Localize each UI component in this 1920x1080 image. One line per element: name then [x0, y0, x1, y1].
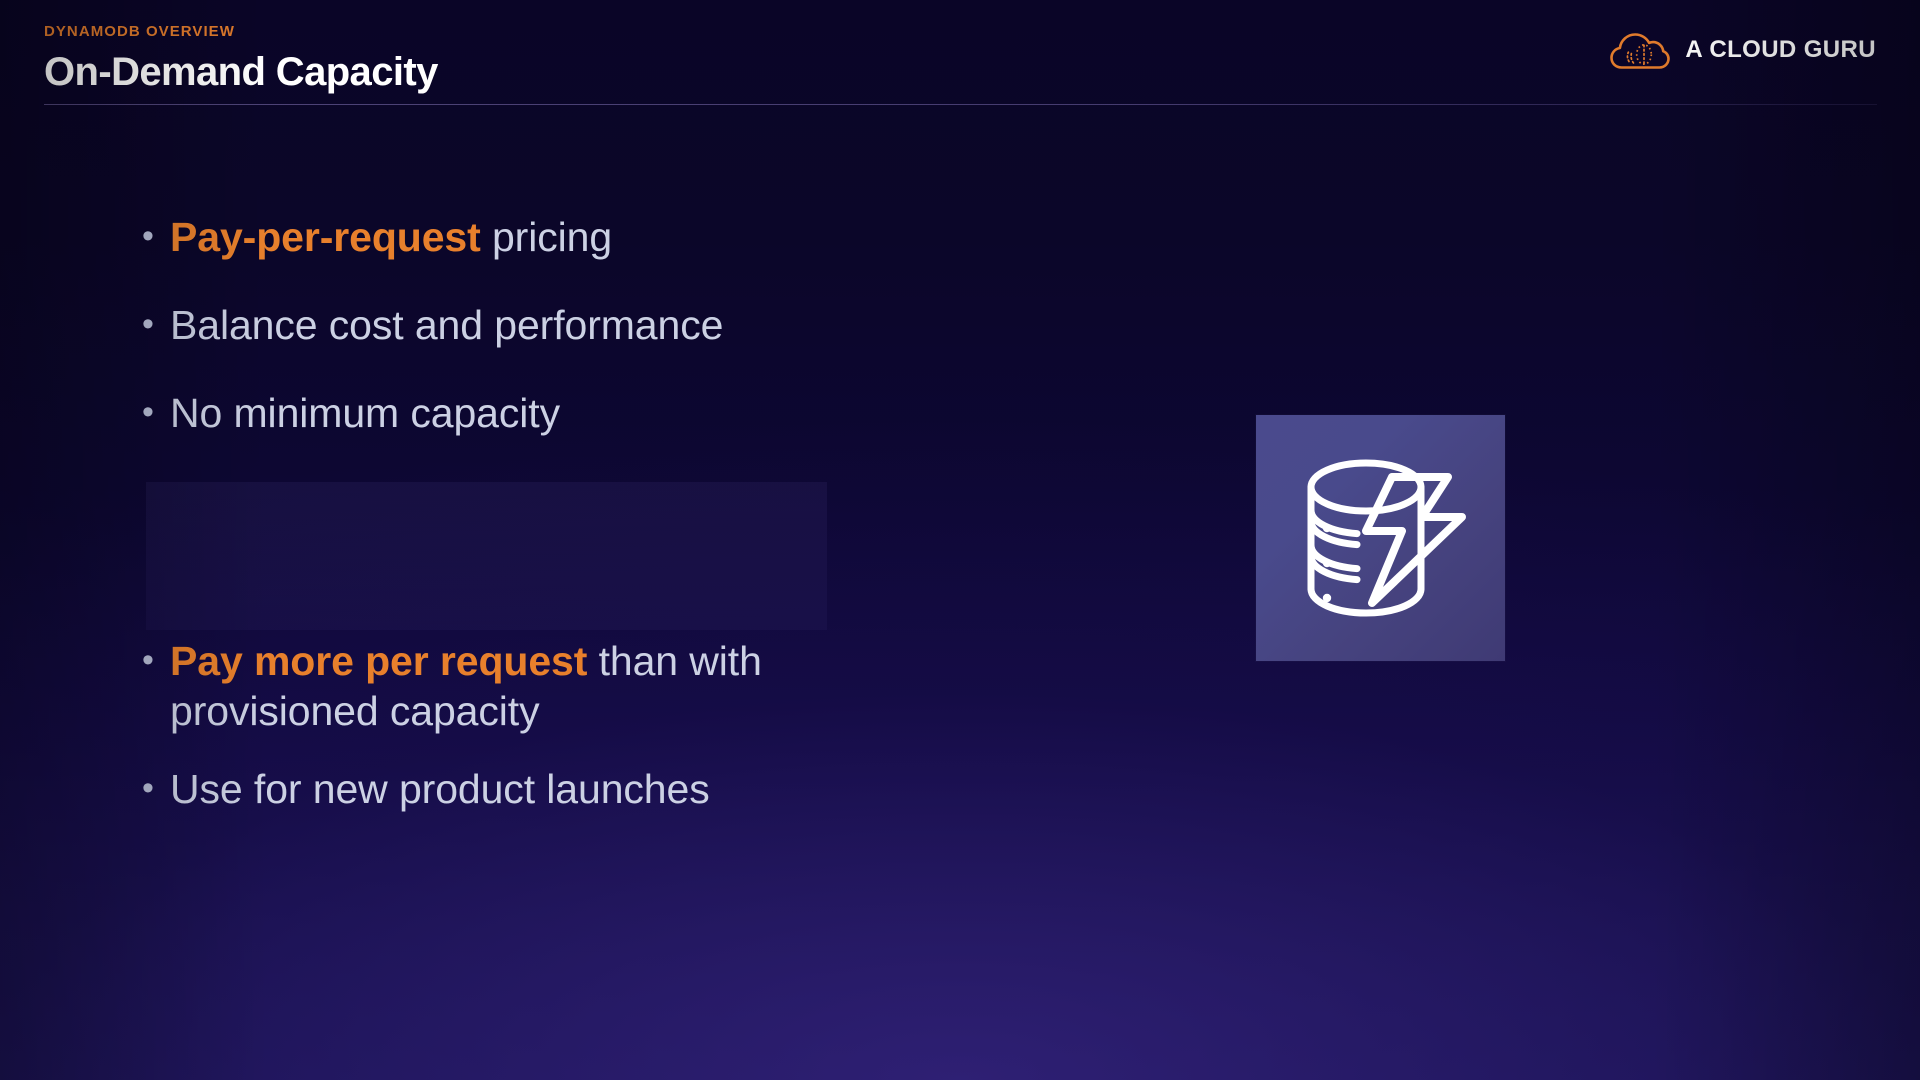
list-item-text: Pay-per-request pricing	[170, 212, 972, 262]
list-item: • Pay more per request than with provisi…	[142, 636, 972, 736]
list-item-rest: pricing	[481, 214, 612, 260]
brand-logo-group: A CLOUD GURU	[1609, 26, 1876, 74]
list-item-rest: Balance cost and performance	[170, 302, 723, 348]
bullet-list: • Pay-per-request pricing • Balance cost…	[142, 212, 972, 814]
list-item-text: Use for new product launches	[170, 764, 972, 814]
slide-eyebrow: DYNAMODB OVERVIEW	[44, 18, 1876, 39]
dynamodb-graphic-tile	[1256, 415, 1505, 661]
list-item-text: Pay more per request than with provision…	[170, 636, 972, 736]
list-item-text: Balance cost and performance	[170, 300, 972, 350]
bullet-marker: •	[142, 764, 170, 812]
list-item-highlight: Pay-per-request	[170, 214, 481, 260]
slide-header: DYNAMODB OVERVIEW On-Demand Capacity	[44, 18, 1876, 106]
page-title: On-Demand Capacity	[44, 51, 1876, 93]
bullet-marker: •	[142, 636, 170, 684]
slide-root: DYNAMODB OVERVIEW On-Demand Capacity A C…	[0, 0, 1920, 1080]
header-divider	[44, 104, 1877, 105]
bullet-marker: •	[142, 212, 170, 260]
bullet-marker: •	[142, 388, 170, 436]
list-item: • Use for new product launches	[142, 764, 972, 814]
list-item: • No minimum capacity	[142, 388, 972, 438]
list-item-text: No minimum capacity	[170, 388, 972, 438]
list-item: • Pay-per-request pricing	[142, 212, 972, 262]
list-item: • Balance cost and performance	[142, 300, 972, 350]
list-item-highlight: Pay more per request	[170, 638, 587, 684]
list-item-rest: Use for new product launches	[170, 766, 710, 812]
cloud-icon	[1609, 27, 1671, 73]
bullet-marker: •	[142, 300, 170, 348]
brand-name: A CLOUD GURU	[1685, 36, 1876, 64]
dynamodb-database-lightning-icon	[1256, 415, 1505, 661]
list-item-rest: No minimum capacity	[170, 390, 560, 436]
